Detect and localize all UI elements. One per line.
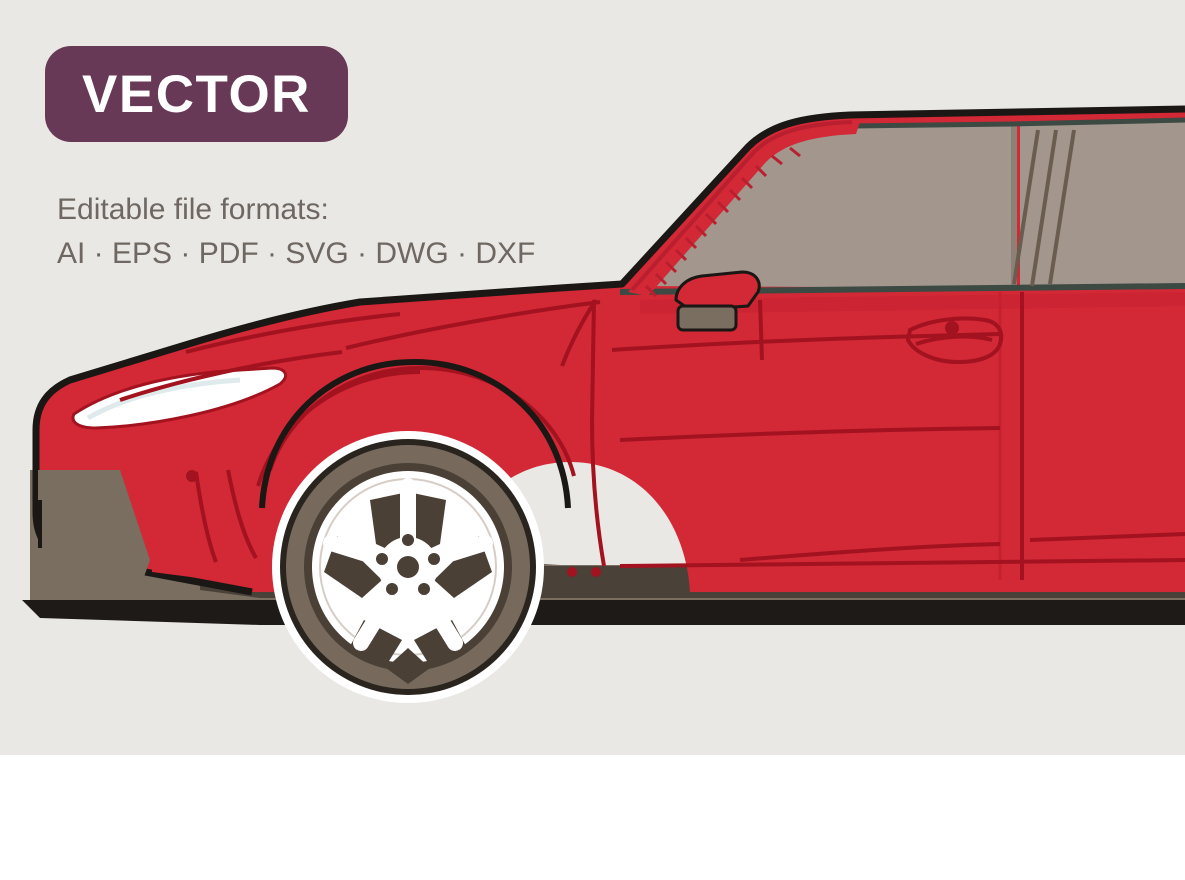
editable-formats-list: AI · EPS · PDF · SVG · DWG · DXF <box>57 232 535 276</box>
b-pillar-detail <box>1014 130 1074 286</box>
sill-line <box>620 560 1185 566</box>
car-lower-trim <box>30 468 1185 600</box>
editable-formats-block: Editable file formats: AI · EPS · PDF · … <box>57 188 535 276</box>
a-pillar <box>628 122 860 296</box>
hood-crease-lines <box>120 302 600 400</box>
car-rocker-panel <box>200 566 1185 598</box>
artwork-preview-area: VECTOR Editable file formats: AI · EPS ·… <box>0 0 1185 755</box>
wheel-lug-nuts <box>376 534 440 595</box>
headlight <box>73 368 286 428</box>
rear-door-glass <box>1020 120 1185 288</box>
vector-badge: VECTOR <box>45 46 348 142</box>
tire-tread <box>286 445 530 689</box>
roof-rail-line <box>640 120 1185 286</box>
tire-outer <box>280 439 536 695</box>
vector-badge-label: VECTOR <box>82 68 311 121</box>
windshield-glass <box>640 124 1012 288</box>
bumper-crease-lines <box>196 470 256 562</box>
wheel-halo <box>272 431 544 703</box>
mirror-base <box>678 306 736 330</box>
a-pillar-line <box>632 122 852 290</box>
wheel-center-cap <box>397 556 419 578</box>
wheel-hub <box>378 537 438 597</box>
preview-page: VECTOR Editable file formats: AI · EPS ·… <box>0 0 1185 880</box>
bumper-red-insert <box>150 470 214 580</box>
caption-footer: Honda Civic · 11 Gen Facelift · Red · To… <box>0 755 1185 880</box>
wheel-rim-lip <box>320 479 496 655</box>
front-door-shut-line <box>592 300 604 566</box>
editable-formats-heading: Editable file formats: <box>57 188 535 232</box>
front-wheel-arch-line <box>270 368 574 476</box>
lower-door-dots <box>567 567 601 577</box>
door-handle <box>908 318 1001 362</box>
side-mirror <box>676 272 759 310</box>
wheel-spokes <box>331 486 485 643</box>
tire-sidewall <box>304 463 512 671</box>
wheel-spoke-gaps <box>324 492 492 684</box>
cowl-line <box>562 300 596 366</box>
car-undershadow <box>22 600 1185 625</box>
fender-arch-outer <box>258 372 420 486</box>
headlight-outline <box>73 368 286 428</box>
wheel-rim <box>312 471 504 663</box>
headlight-inner-line <box>88 380 240 418</box>
door-mirror-shut <box>760 300 762 360</box>
side-character-lines <box>612 334 1185 560</box>
bumper-sensor-dot <box>186 470 198 482</box>
front-air-dam <box>38 470 150 588</box>
car-body-shell <box>36 110 1185 592</box>
car-belt-highlight <box>640 292 1185 314</box>
a-pillar-hatching <box>646 148 800 296</box>
front-wheel-arch-outline <box>262 362 568 508</box>
front-wheel <box>272 431 544 703</box>
beltline-strip <box>620 286 1185 292</box>
car-front-outline <box>36 430 252 592</box>
